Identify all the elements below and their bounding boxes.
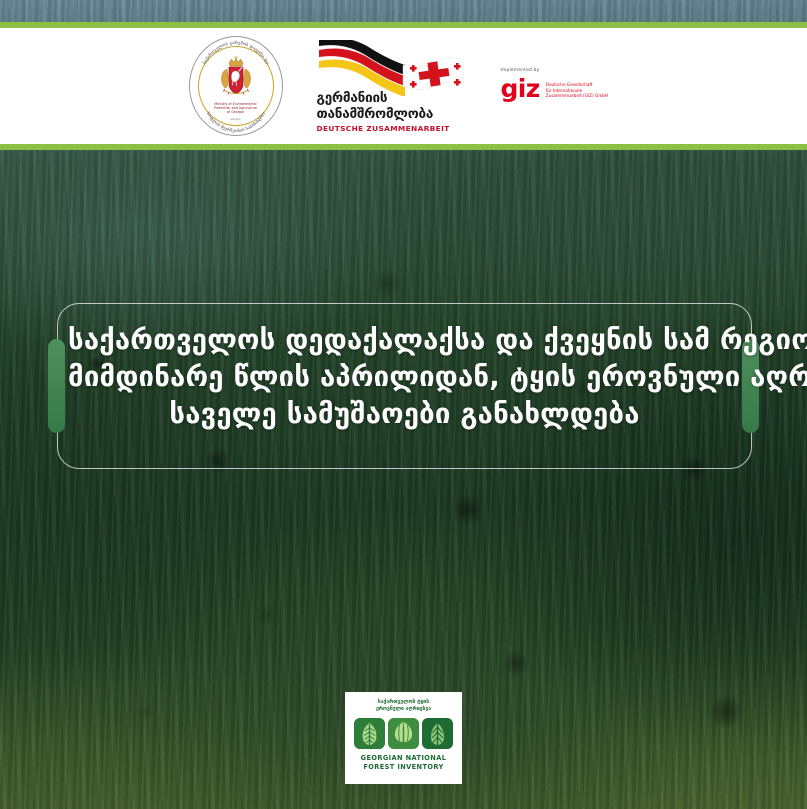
- german-cooperation-logo: გერმანიის თანამშრომლობა DEUTSCHE ZUSAMME…: [317, 40, 467, 132]
- headline-line-2: მიმდინარე წლის აპრილიდან, ტყის ეროვნული …: [68, 359, 741, 396]
- leaf-simple-icon: [354, 718, 385, 749]
- poster-canvas: საქართველოს გარემოს დაცვისა და სოფლის მე…: [0, 0, 807, 809]
- seal-sub-caption: Georgia: [189, 118, 283, 121]
- giz-mark-row: giz Deutsche Gesellschaft für Internatio…: [501, 78, 619, 99]
- seal-english-caption: Ministry of Environmental Protection and…: [189, 102, 283, 115]
- german-georgian-flag-ribbon-icon: [317, 40, 467, 96]
- giz-full-name: Deutsche Gesellschaft für Internationale…: [546, 78, 608, 99]
- german-cooperation-de-line: DEUTSCHE ZUSAMMENARBEIT: [317, 124, 467, 133]
- giz-wordmark: giz: [501, 78, 540, 99]
- german-cooperation-wordmark: გერმანიის თანამშრომლობა DEUTSCHE ZUSAMME…: [317, 90, 467, 133]
- partner-logo-row: საქართველოს გარემოს დაცვისა და სოფლის მე…: [0, 28, 807, 144]
- gnfi-leaf-tiles: [350, 718, 457, 749]
- accent-bar-left: [48, 339, 65, 433]
- german-cooperation-ka-line2: თანამშრომლობა: [317, 106, 467, 122]
- georgia-coat-of-arms-icon: [209, 56, 263, 102]
- leaf-feather-icon: [422, 718, 453, 749]
- gnfi-logo: საქართველოს ტყის ეროვნული აღრიცხვა: [345, 692, 462, 784]
- header-bottom-green-rule: [0, 144, 807, 150]
- headline-line-3: საველე სამუშაოები განახლდება: [68, 396, 741, 433]
- headline-text: საქართველოს დედაქალაქსა და ქვეყნის სამ რ…: [68, 322, 741, 433]
- headline-line-1: საქართველოს დედაქალაქსა და ქვეყნის სამ რ…: [68, 322, 741, 359]
- giz-implemented-by-caption: Implemented by: [501, 68, 619, 73]
- gnfi-english-name: GEORGIAN NATIONAL FOREST INVENTORY: [350, 754, 457, 771]
- gnfi-georgian-name: საქართველოს ტყის ეროვნული აღრიცხვა: [350, 699, 457, 713]
- ministry-seal-logo: საქართველოს გარემოს დაცვისა და სოფლის მე…: [189, 36, 283, 136]
- giz-logo: Implemented by giz Deutsche Gesellschaft…: [501, 68, 619, 130]
- german-cooperation-ka-line1: გერმანიის: [317, 90, 467, 106]
- leaf-broad-icon: [388, 718, 419, 749]
